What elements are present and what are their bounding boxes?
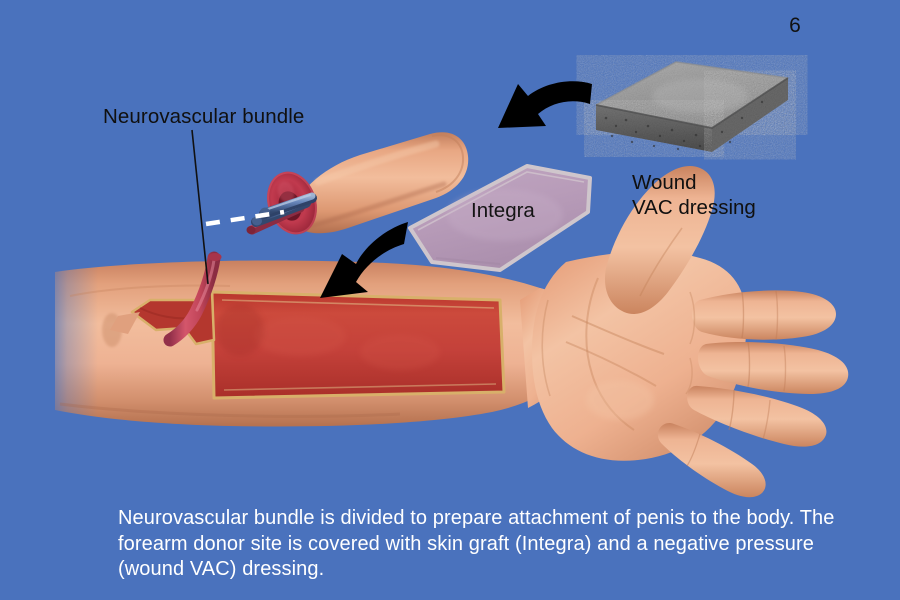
wound-highlight-a [254, 316, 346, 356]
wound-shadow-left [216, 304, 264, 356]
leader-line [192, 130, 208, 284]
arrow-to-integra [498, 81, 592, 128]
label-integra: Integra [471, 199, 535, 223]
little-finger [658, 423, 766, 497]
sponge-top-highlight [652, 79, 748, 113]
nvb-artery-tip [247, 226, 256, 234]
slide-canvas: 6 Neurovascular bundle Integra Wound VAC… [0, 0, 900, 600]
label-wound-vac-line2: VAC dressing [632, 195, 756, 220]
page-number: 6 [770, 14, 820, 38]
label-wound-vac-line1: Wound [632, 170, 756, 195]
wound-vac-sponge [596, 62, 788, 152]
ring-finger [687, 386, 826, 447]
forearm-fade-edge [42, 258, 98, 416]
label-neurovascular-bundle: Neurovascular bundle [103, 105, 304, 129]
wound-highlight-b [360, 334, 440, 370]
palm-highlight [586, 380, 654, 420]
figure-caption: Neurovascular bundle is divided to prepa… [118, 506, 858, 583]
label-wound-vac-dressing: Wound VAC dressing [632, 170, 756, 220]
index-finger [692, 290, 836, 339]
vessel-stump-tip [209, 253, 222, 261]
